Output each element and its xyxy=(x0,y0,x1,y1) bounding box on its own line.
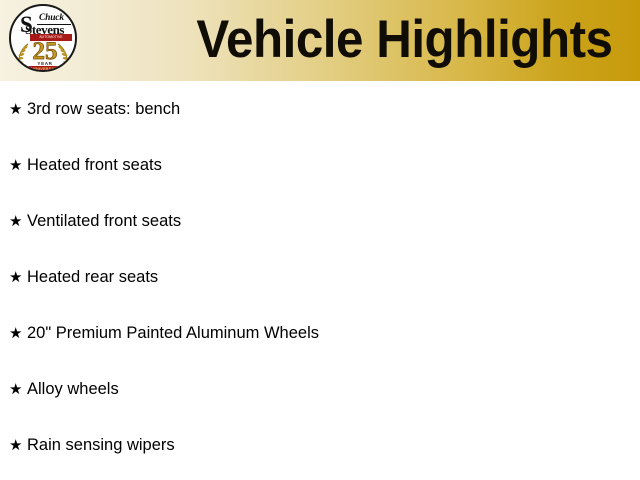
list-item: ★ Rain sensing wipers xyxy=(0,417,640,473)
highlight-label: Heated front seats xyxy=(27,155,162,175)
logo-disc: S Chuck Stevens AUTOMOTIVE xyxy=(9,4,77,72)
highlight-label: Alloy wheels xyxy=(27,379,119,399)
list-item: ★ Ventilated front seats xyxy=(0,193,640,249)
star-bullet-icon: ★ xyxy=(9,102,27,117)
highlight-label: 20" Premium Painted Aluminum Wheels xyxy=(27,323,319,343)
page-title: Vehicle Highlights xyxy=(196,8,612,72)
star-bullet-icon: ★ xyxy=(9,214,27,229)
logo-anniversary-label: ANNIVERSARY xyxy=(28,66,62,72)
vehicle-highlights-slide: Vehicle Highlights S Chuck Stevens AUTOM… xyxy=(0,0,640,480)
highlight-label: Rain sensing wipers xyxy=(27,435,175,455)
list-item: ★ Heated front seats xyxy=(0,137,640,193)
highlights-list: ★ 3rd row seats: bench ★ Heated front se… xyxy=(0,81,640,473)
star-bullet-icon: ★ xyxy=(9,158,27,173)
list-item: ★ 3rd row seats: bench xyxy=(0,81,640,137)
star-bullet-icon: ★ xyxy=(9,438,27,453)
highlight-label: 3rd row seats: bench xyxy=(27,99,180,119)
dealer-logo: S Chuck Stevens AUTOMOTIVE xyxy=(9,4,77,72)
list-item: ★ Alloy wheels xyxy=(0,361,640,417)
list-item: ★ Heated rear seats xyxy=(0,249,640,305)
star-bullet-icon: ★ xyxy=(9,326,27,341)
list-item: ★ 20" Premium Painted Aluminum Wheels xyxy=(0,305,640,361)
logo-anniversary-banner: ANNIVERSARY xyxy=(28,66,62,72)
star-bullet-icon: ★ xyxy=(9,382,27,397)
highlight-label: Ventilated front seats xyxy=(27,211,181,231)
highlight-label: Heated rear seats xyxy=(27,267,158,287)
star-bullet-icon: ★ xyxy=(9,270,27,285)
